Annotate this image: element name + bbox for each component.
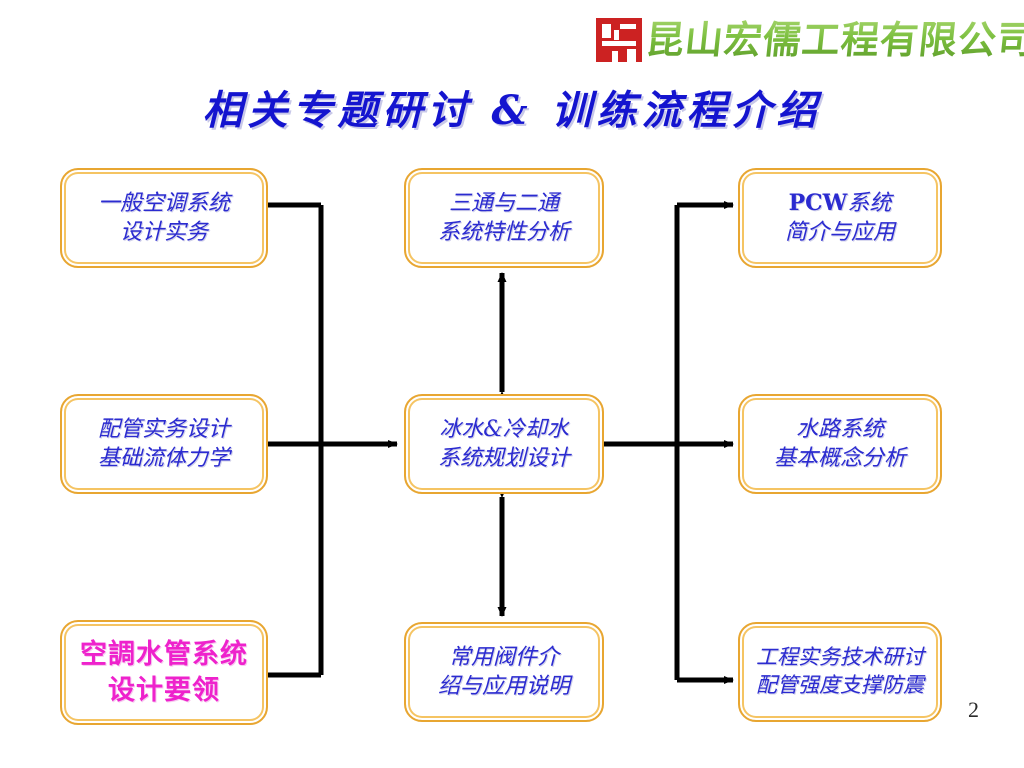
node-line-1: PCW系统 [789, 189, 892, 218]
node-line-2: 简介与应用 [785, 218, 895, 247]
flow-node-common-valves[interactable]: 常用阀件介 绍与应用说明 [404, 622, 604, 722]
flow-node-piping-practice[interactable]: 配管实务设计 基础流体力学 [60, 394, 268, 494]
flow-node-hvac-water-piping-highlighted[interactable]: 空調水管系统 设计要领 [60, 620, 268, 725]
flow-node-general-hvac[interactable]: 一般空调系统 设计实务 [60, 168, 268, 268]
flow-node-chilled-cooling-water[interactable]: 冰水&冷却水 系统规划设计 [404, 394, 604, 494]
node-line-1: 三通与二通 [449, 189, 559, 218]
node-line-1: 冰水&冷却水 [439, 415, 569, 444]
flow-node-waterway-system[interactable]: 水路系统 基本概念分析 [738, 394, 942, 494]
flow-node-pcw-system[interactable]: PCW系统 简介与应用 [738, 168, 942, 268]
node-line-2: 配管强度支撑防震 [756, 672, 924, 700]
node-line-1: 工程实务技术研讨 [756, 644, 924, 672]
node-line-2: 基本概念分析 [774, 444, 906, 473]
node-line-2: 基础流体力学 [98, 444, 230, 473]
node-line-1-bold-prefix: PCW [789, 190, 848, 216]
node-line-1: 水路系统 [796, 415, 884, 444]
slide-canvas: 昆山宏儒工程有限公司 相关专题研讨 & 训练流程介绍 [0, 0, 1024, 768]
connector-right-bus [604, 205, 677, 680]
node-line-1-suffix: 系统 [847, 191, 891, 216]
node-line-1: 空調水管系统 [80, 637, 248, 673]
node-line-2: 系统特性分析 [438, 218, 570, 247]
flow-node-engineering-practice[interactable]: 工程实务技术研讨 配管强度支撑防震 [738, 622, 942, 722]
node-line-1: 常用阀件介 [449, 643, 559, 672]
page-number: 2 [968, 697, 979, 723]
node-line-1: 一般空调系统 [98, 189, 230, 218]
node-line-2: 设计实务 [120, 218, 208, 247]
node-line-2: 系统规划设计 [438, 444, 570, 473]
connector-left-bus [268, 205, 321, 675]
flow-node-three-way-two-way[interactable]: 三通与二通 系统特性分析 [404, 168, 604, 268]
node-line-2: 设计要领 [108, 673, 220, 709]
node-line-2: 绍与应用说明 [438, 672, 570, 701]
node-line-1: 配管实务设计 [98, 415, 230, 444]
